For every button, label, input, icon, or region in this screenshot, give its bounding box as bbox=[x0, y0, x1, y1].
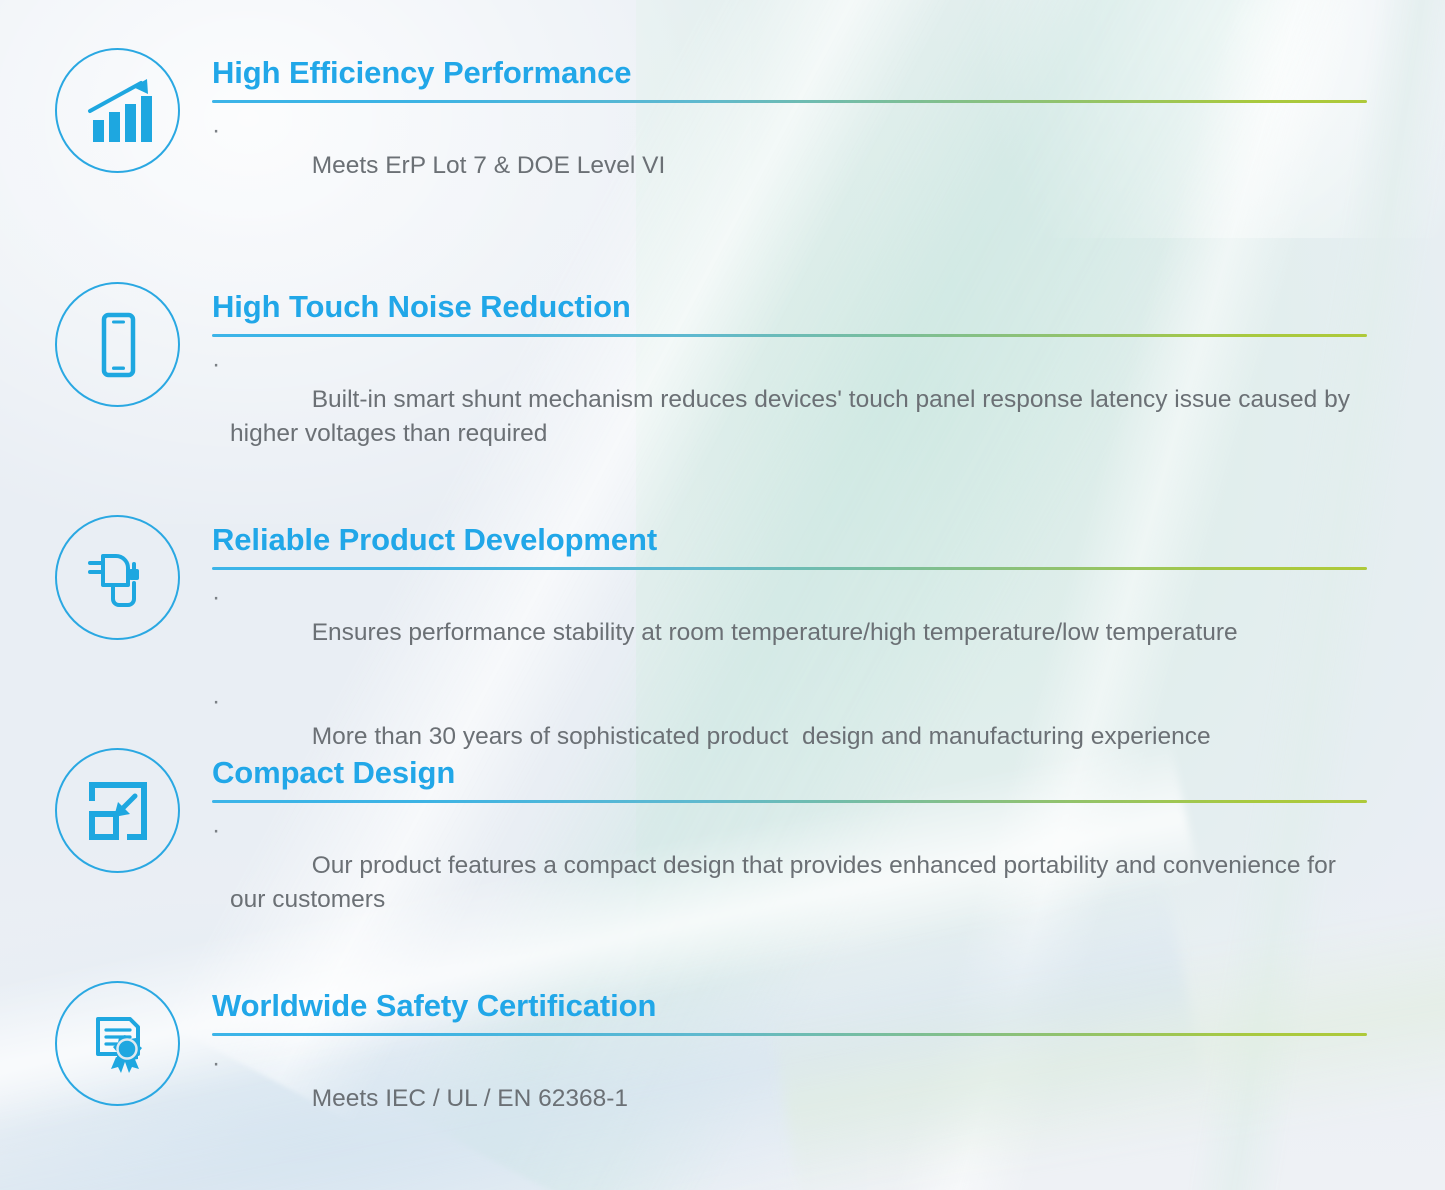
feature-bullet-list: ·Meets IEC / UL / EN 62368-1 bbox=[212, 1047, 1367, 1151]
bullet-glyph: · bbox=[212, 1047, 220, 1082]
feature-bullet-text: Meets IEC / UL / EN 62368-1 bbox=[312, 1085, 628, 1112]
feature-title: Compact Design bbox=[212, 756, 1367, 791]
feature-body: Compact Design ·Our product features a c… bbox=[212, 756, 1367, 953]
feature-bullet-list: ·Meets ErP Lot 7 & DOE Level VI bbox=[212, 114, 1367, 218]
smartphone-icon bbox=[55, 282, 180, 407]
bullet-glyph: · bbox=[212, 348, 220, 383]
feature-bullet-text: Our product features a compact design th… bbox=[230, 852, 1343, 914]
feature-body: Reliable Product Development ·Ensures pe… bbox=[212, 523, 1367, 789]
bullet-glyph: · bbox=[212, 581, 220, 616]
feature-bullet-text: More than 30 years of sophisticated prod… bbox=[312, 723, 1211, 750]
compact-resize-icon bbox=[55, 748, 180, 873]
feature-title: Worldwide Safety Certification bbox=[212, 989, 1367, 1024]
feature-bullet-text: Built-in smart shunt mechanism reduces d… bbox=[230, 386, 1357, 448]
feature-bullet-line: ·Meets ErP Lot 7 & DOE Level VI bbox=[212, 114, 1367, 218]
feature-bullet-list: ·Built-in smart shunt mechanism reduces … bbox=[212, 348, 1367, 487]
feature-bullet-text: Ensures performance stability at room te… bbox=[312, 619, 1238, 646]
feature-bullet-text: Meets ErP Lot 7 & DOE Level VI bbox=[312, 152, 666, 179]
feature-bullet-line: ·Our product features a compact design t… bbox=[212, 814, 1367, 953]
bullet-glyph: · bbox=[212, 685, 220, 720]
feature-title: High Touch Noise Reduction bbox=[212, 290, 1367, 325]
feature-divider bbox=[212, 100, 1367, 103]
bullet-glyph: · bbox=[212, 814, 220, 849]
feature-divider bbox=[212, 334, 1367, 337]
feature-divider bbox=[212, 800, 1367, 803]
power-adapter-icon bbox=[55, 515, 180, 640]
feature-title: High Efficiency Performance bbox=[212, 56, 1367, 91]
bullet-glyph: · bbox=[212, 114, 220, 149]
bar-chart-growth-icon bbox=[55, 48, 180, 173]
feature-bullet-line: ·Built-in smart shunt mechanism reduces … bbox=[212, 348, 1367, 487]
feature-divider bbox=[212, 567, 1367, 570]
feature-divider bbox=[212, 1033, 1367, 1036]
feature-bullet-line: ·Ensures performance stability at room t… bbox=[212, 581, 1367, 685]
feature-body: High Touch Noise Reduction ·Built-in sma… bbox=[212, 290, 1367, 487]
feature-bullet-list: ·Our product features a compact design t… bbox=[212, 814, 1367, 953]
feature-bullet-line: ·Meets IEC / UL / EN 62368-1 bbox=[212, 1047, 1367, 1151]
feature-title: Reliable Product Development bbox=[212, 523, 1367, 558]
feature-body: High Efficiency Performance ·Meets ErP L… bbox=[212, 56, 1367, 218]
feature-highlights-page: High Efficiency Performance ·Meets ErP L… bbox=[0, 0, 1445, 1190]
feature-body: Worldwide Safety Certification ·Meets IE… bbox=[212, 989, 1367, 1151]
certificate-award-icon bbox=[55, 981, 180, 1106]
